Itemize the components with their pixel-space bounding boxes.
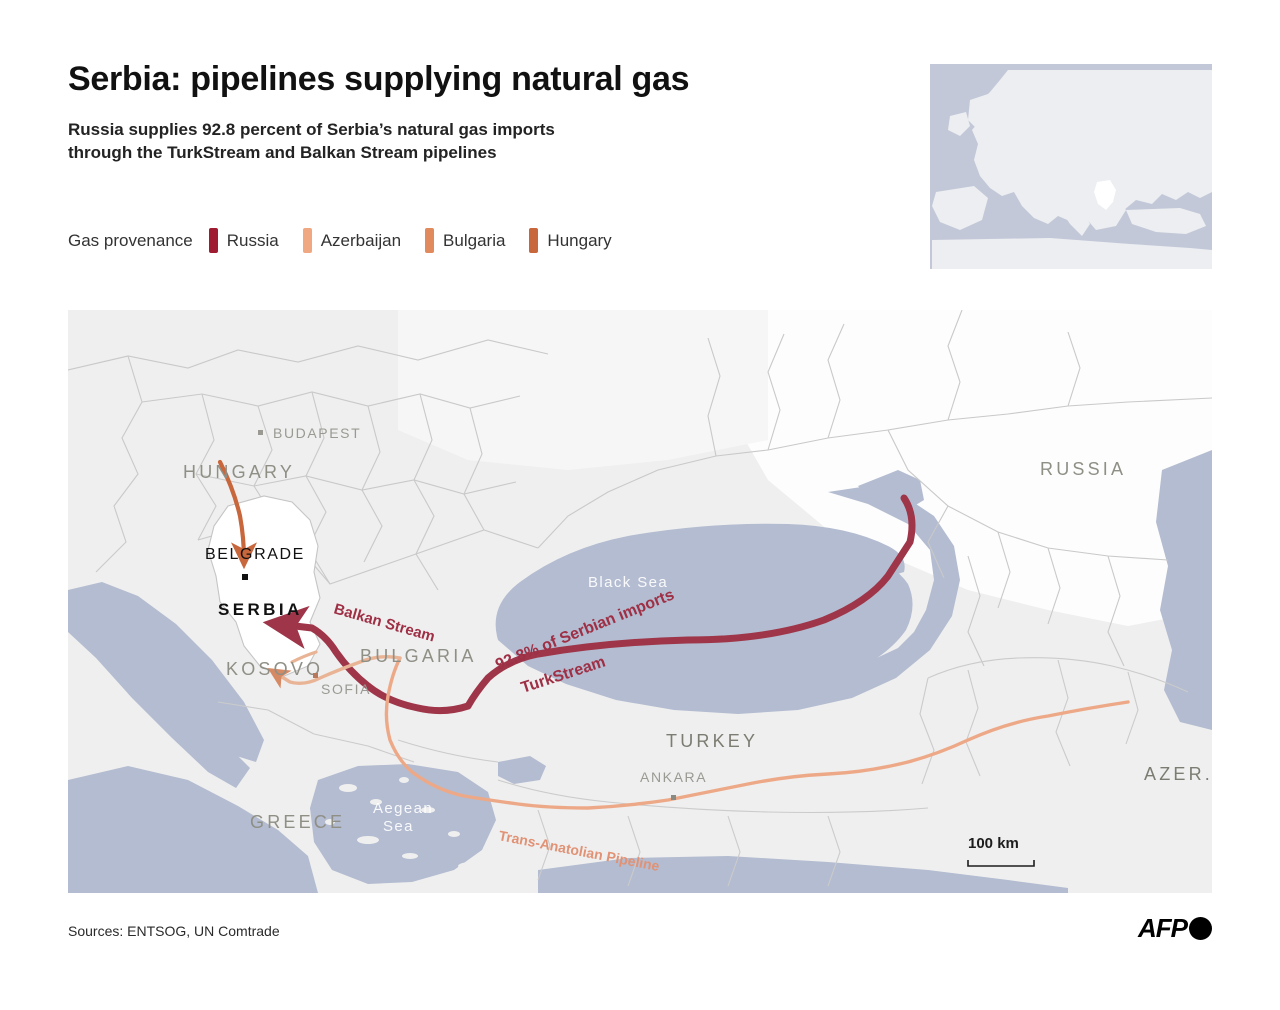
capital-label-ankara: ANKARA [640, 769, 707, 785]
country-label-kosovo: KOSOVO [226, 659, 323, 679]
capital-label-budapest: BUDAPEST [273, 425, 361, 441]
page-title: Serbia: pipelines supplying natural gas [68, 60, 689, 99]
legend-swatch-russia [209, 228, 218, 253]
legend-item-bulgaria: Bulgaria [425, 228, 505, 253]
legend-swatch-azerbaijan [303, 228, 312, 253]
country-label-azer: AZER. [1144, 764, 1212, 784]
legend-label-bulgaria: Bulgaria [443, 231, 505, 251]
capital-dot-belgrade [242, 574, 248, 580]
country-label-serbia: SERBIA [218, 600, 303, 619]
infographic-page: Serbia: pipelines supplying natural gas … [0, 0, 1280, 1010]
scale-bar-label: 100 km [968, 835, 1019, 852]
legend-swatch-bulgaria [425, 228, 434, 253]
locator-inset-map [930, 64, 1212, 269]
capital-label-sofia: SOFIA [321, 681, 371, 697]
country-label-greece: GREECE [250, 812, 345, 832]
sources-note: Sources: ENTSOG, UN Comtrade [68, 923, 280, 939]
locator-inset-svg [930, 64, 1212, 269]
afp-logo-dot [1189, 917, 1212, 940]
capital-label-belgrade: BELGRADE [205, 546, 305, 563]
legend-label-azerbaijan: Azerbaijan [321, 231, 401, 251]
country-label-hungary: HUNGARY [183, 462, 295, 482]
sea-label-black-sea: Black Sea [588, 574, 668, 591]
capital-dot-sofia [313, 673, 318, 678]
afp-logo: AFP [1138, 915, 1212, 941]
country-label-bulgaria: BULGARIA [360, 646, 477, 666]
afp-logo-text: AFP [1138, 915, 1187, 941]
sea-label-aegean-sea: Sea [383, 818, 414, 835]
legend-title: Gas provenance [68, 231, 193, 251]
legend-label-hungary: Hungary [547, 231, 611, 251]
legend: Gas provenance Russia Azerbaijan Bulgari… [68, 228, 636, 253]
capital-dot-ankara [671, 795, 676, 800]
country-label-turkey: TURKEY [666, 731, 758, 751]
legend-item-hungary: Hungary [529, 228, 611, 253]
sea-label-aegean: Aegean [373, 800, 433, 817]
page-subtitle: Russia supplies 92.8 percent of Serbia’s… [68, 118, 555, 165]
legend-label-russia: Russia [227, 231, 279, 251]
main-map-svg: Black Sea Aegean Sea HUNGARY SERBIA KOSO… [68, 310, 1212, 893]
map-region-ukraine [398, 310, 768, 470]
country-label-russia: RUSSIA [1040, 459, 1126, 479]
legend-swatch-hungary [529, 228, 538, 253]
legend-item-russia: Russia [209, 228, 279, 253]
capital-dot-budapest [258, 430, 263, 435]
legend-item-azerbaijan: Azerbaijan [303, 228, 401, 253]
main-map: Black Sea Aegean Sea HUNGARY SERBIA KOSO… [68, 310, 1212, 893]
